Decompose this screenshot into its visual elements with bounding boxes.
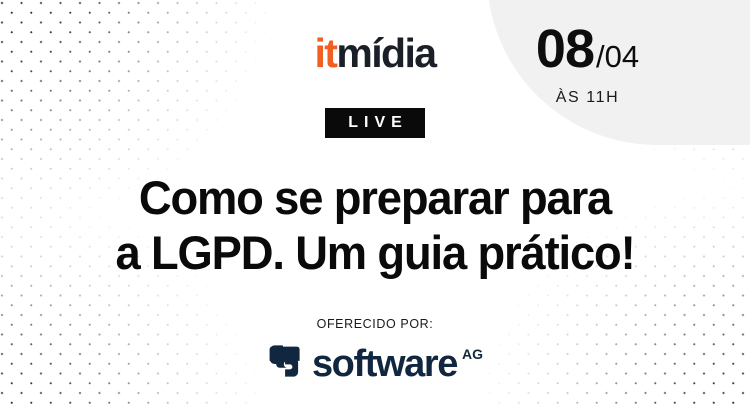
webinar-banner: 08 /04 ÀS 11H itmídia LIVE Como se prepa…	[0, 0, 750, 410]
live-badge-container: LIVE	[0, 108, 750, 138]
software-ag-suffix: AG	[462, 347, 483, 361]
live-badge: LIVE	[325, 108, 425, 138]
headline-line-1: Como se preparar para	[13, 171, 737, 226]
software-ag-wordmark: software AG	[312, 345, 483, 383]
itmidia-logo-text: itmídia	[315, 30, 436, 76]
headline-line-2: a LGPD. Um guia prático!	[13, 226, 737, 281]
itmidia-logo-midia: mídia	[336, 30, 435, 76]
software-ag-name: software	[312, 345, 457, 383]
itmidia-logo-it: it	[315, 30, 337, 76]
software-ag-logo: software AG	[0, 344, 750, 383]
page-title: Como se preparar para a LGPD. Um guia pr…	[13, 171, 737, 280]
date-time: ÀS 11H	[500, 89, 675, 107]
sponsor-label: OFERECIDO POR:	[0, 317, 750, 331]
itmidia-logo: itmídia	[0, 33, 750, 74]
sponsor-section: OFERECIDO POR: software AG	[0, 317, 750, 383]
software-ag-mark-icon	[267, 344, 301, 383]
